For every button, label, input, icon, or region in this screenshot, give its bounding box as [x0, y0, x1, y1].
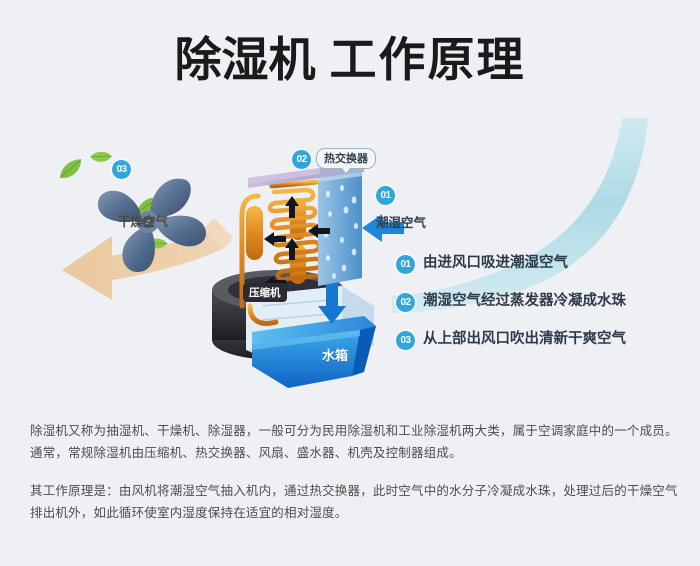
- label-water-tank: 水箱: [322, 345, 348, 364]
- legend-text-03: 从上部出风口吹出清新干爽空气: [423, 330, 626, 349]
- description-paragraph-2: 其工作原理是：由风机将潮湿空气抽入机内，通过热交换器，此时空气中的水分子冷凝成水…: [30, 480, 680, 524]
- badge-heat-exchanger: 02: [292, 150, 311, 169]
- legend-badge-03: 03: [396, 331, 415, 350]
- legend-badge-02: 02: [396, 293, 415, 312]
- page-title: 除湿机工作原理: [0, 30, 700, 90]
- page-title-part2: 工作原理: [330, 33, 526, 86]
- page-title-part1: 除湿机: [175, 33, 316, 86]
- legend-item-01: 01 由进风口吸进潮湿空气: [396, 254, 676, 292]
- description-paragraph-1: 除湿机又称为抽湿机、干燥机、除湿器，一般可分为民用除湿机和工业除湿机两大类，属于…: [30, 420, 680, 464]
- badge-dry-air: 03: [112, 160, 131, 179]
- label-compressor: 压缩机: [243, 283, 287, 302]
- legend-badge-01: 01: [396, 255, 415, 274]
- legend-list: 01 由进风口吸进潮湿空气 02 潮湿空气经过蒸发器冷凝成水珠 03 从上部出风…: [396, 254, 676, 368]
- label-humid-air: 潮湿空气: [376, 212, 426, 231]
- legend-text-02: 潮湿空气经过蒸发器冷凝成水珠: [423, 292, 626, 311]
- callout-heat-exchanger: 热交换器: [316, 148, 376, 169]
- legend-item-03: 03 从上部出风口吹出清新干爽空气: [396, 330, 676, 368]
- label-dry-air: 干燥空气: [118, 211, 168, 230]
- legend-text-01: 由进风口吸进潮湿空气: [423, 254, 568, 273]
- legend-item-02: 02 潮湿空气经过蒸发器冷凝成水珠: [396, 292, 676, 330]
- description-block: 除湿机又称为抽湿机、干燥机、除湿器，一般可分为民用除湿机和工业除湿机两大类，属于…: [30, 420, 680, 524]
- badge-humid-air: 01: [376, 186, 395, 205]
- infographic-page: 除湿机工作原理: [0, 0, 700, 566]
